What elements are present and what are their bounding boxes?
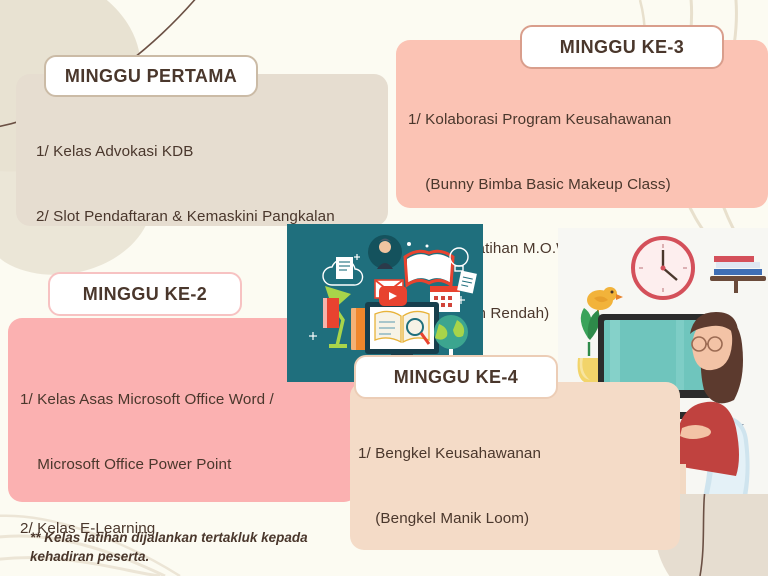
list-item: 1/ Bengkel Keusahawanan (358, 443, 592, 465)
week-4-item-list: 1/ Bengkel Keusahawanan (Bengkel Manik L… (358, 400, 592, 576)
footnote-text: ** Kelas latihan dijalankan tertakluk ke… (30, 528, 360, 566)
list-item: (Bunny Bimba Basic Makeup Class) (408, 174, 706, 196)
week-panel-minggu-ke-4: 1/ Bengkel Keusahawanan (Bengkel Manik L… (350, 382, 680, 550)
week-badge-label: MINGGU KE-3 (560, 37, 684, 58)
list-item: Microsoft Office Power Point (20, 454, 274, 476)
week-badge-label: MINGGU KE-4 (394, 367, 518, 388)
week-badge-label: MINGGU KE-2 (83, 284, 207, 305)
poster-canvas: 1/ Kelas Advokasi KDB 2/ Slot Pendaftara… (0, 0, 768, 576)
week-badge-minggu-ke-2: MINGGU KE-2 (48, 272, 242, 316)
open-book-icon (405, 251, 453, 285)
list-item: (Bengkel Manik Loom) (358, 508, 592, 530)
week-badge-minggu-pertama: MINGGU PERTAMA (44, 55, 258, 97)
week-badge-minggu-ke-4: MINGGU KE-4 (354, 355, 558, 399)
document-icon (336, 257, 353, 279)
list-item: 1/ Kolaborasi Program Keusahawanan (408, 109, 706, 131)
list-item: 1/ Kelas Advokasi KDB (36, 141, 335, 163)
wall-clock-icon (633, 238, 693, 298)
list-item: 1/ Kelas Asas Microsoft Office Word / (20, 389, 274, 411)
list-item: 2/ Kelas STEM/IoT (358, 572, 592, 576)
week-badge-label: MINGGU PERTAMA (65, 66, 237, 87)
week-badge-minggu-ke-3: MINGGU KE-3 (520, 25, 724, 69)
